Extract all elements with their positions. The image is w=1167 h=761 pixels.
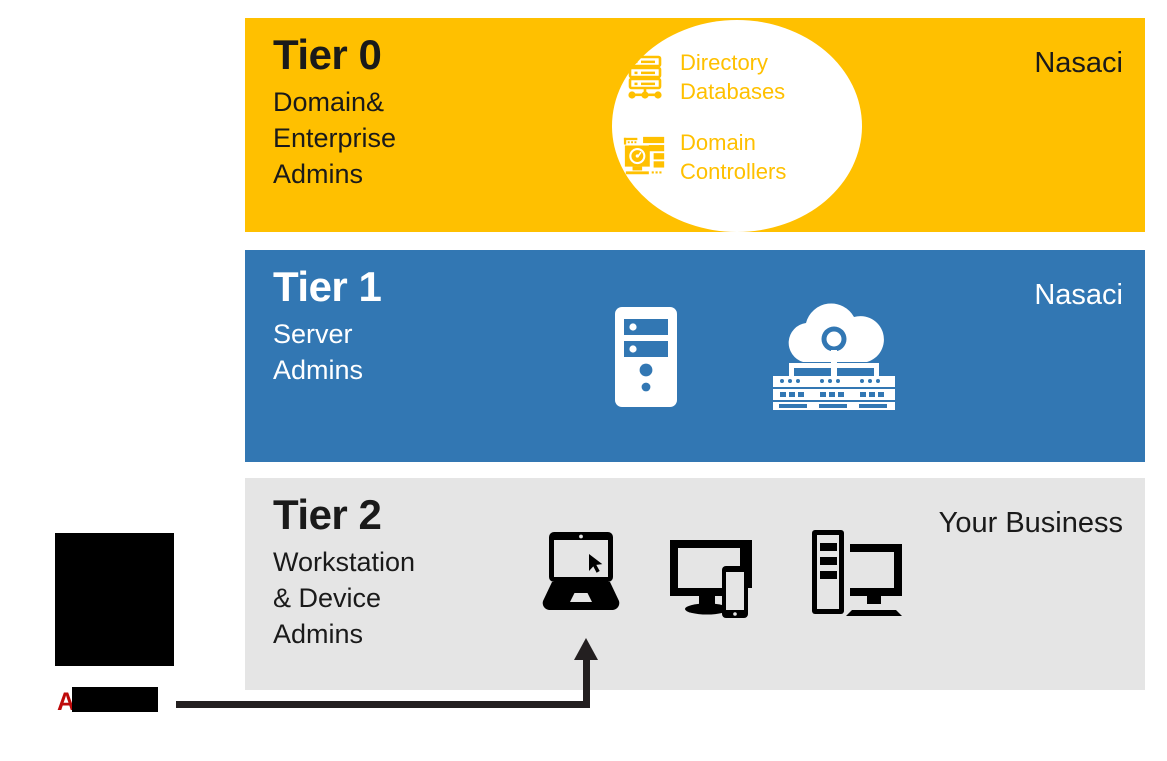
tier1-text-block: Tier 1 Server Admins — [273, 262, 381, 388]
tier0-asset-row: Directory Databases — [622, 48, 857, 106]
tier0-subtitle: Domain& Enterprise Admins — [273, 84, 396, 192]
laptop-cursor-icon — [540, 530, 622, 625]
tier0-text-block: Tier 0 Domain& Enterprise Admins — [273, 30, 396, 192]
tier-band-tier2: Tier 2 Workstation & Device Admins Your … — [245, 478, 1145, 690]
tier2-subtitle: Workstation & Device Admins — [273, 544, 415, 652]
tier0-asset-label: Domain Controllers — [680, 128, 786, 186]
tier2-title: Tier 2 — [273, 490, 415, 540]
diagram-canvas: Tier 0 Domain& Enterprise Admins Nasaci — [0, 0, 1167, 761]
tier1-subtitle: Server Admins — [273, 316, 381, 388]
domain-controller-icon — [622, 133, 668, 181]
attack-path-horizontal-segment — [176, 701, 590, 708]
tier1-owner-label: Nasaci — [1034, 278, 1123, 312]
tier2-owner-label: Your Business — [939, 506, 1123, 540]
tier2-text-block: Tier 2 Workstation & Device Admins — [273, 490, 415, 652]
tier-band-tier0: Tier 0 Domain& Enterprise Admins Nasaci — [245, 18, 1145, 232]
server-tower-icon — [615, 307, 677, 412]
attacker-redaction-bar — [72, 687, 158, 712]
attack-path-arrowhead — [574, 638, 598, 660]
tier2-asset-icons — [540, 530, 910, 625]
tier0-owner-label: Nasaci — [1034, 46, 1123, 80]
attack-path-vertical-segment — [583, 656, 590, 706]
tier0-asset-row: Domain Controllers — [622, 128, 857, 186]
tier-band-tier1: Tier 1 Server Admins Nasaci — [245, 250, 1145, 462]
tier1-title: Tier 1 — [273, 262, 381, 312]
server-rack-icon — [622, 53, 668, 101]
cloud-network-icon — [769, 302, 899, 417]
tier1-asset-icons — [615, 302, 899, 417]
attacker-photo — [55, 533, 174, 666]
monitor-phone-icon — [666, 530, 766, 625]
desktop-tower-icon — [810, 530, 910, 625]
tier0-asset-list: Directory Databases — [622, 48, 857, 208]
tier0-title: Tier 0 — [273, 30, 396, 80]
tier0-asset-label: Directory Databases — [680, 48, 785, 106]
